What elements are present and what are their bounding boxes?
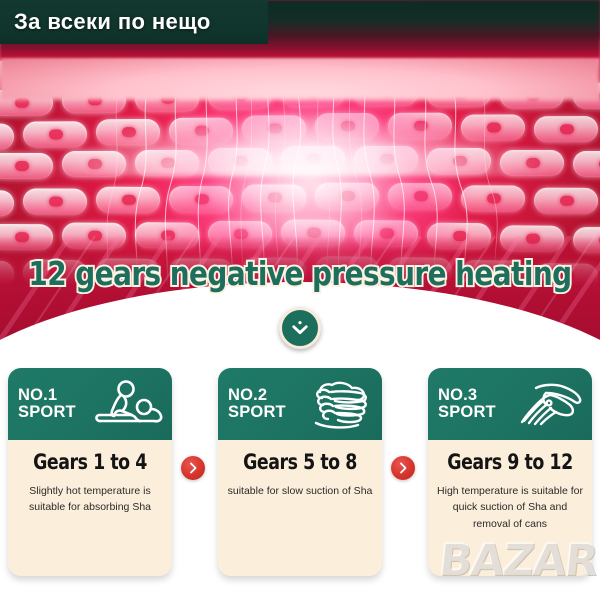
hero-headline: 12 gears negative pressure heating bbox=[18, 254, 582, 293]
card-header: NO.2 SPORT bbox=[218, 368, 382, 440]
scroll-down-button[interactable] bbox=[279, 307, 321, 349]
card-no3-sport[interactable]: NO.3 SPORT Gears 9 to bbox=[428, 368, 592, 576]
massage-therapy-icon bbox=[92, 378, 164, 432]
connector-arrow-2[interactable] bbox=[391, 456, 415, 480]
card-title: Gears 1 to 4 bbox=[23, 450, 157, 474]
card-title: Gears 9 to 12 bbox=[443, 450, 577, 474]
chevron-right-icon bbox=[397, 462, 409, 474]
card-no2-sport[interactable]: NO.2 SPORT bbox=[218, 368, 382, 576]
feature-cards: NO.1 SPORT Gears 1 to bbox=[0, 368, 600, 583]
card-badge: NO.3 SPORT bbox=[438, 387, 496, 422]
card-badge: NO.1 SPORT bbox=[18, 387, 76, 422]
banner-text: За всеки по нещо bbox=[14, 9, 211, 35]
product-feature-page: За всеки по нещо 12 gears negative press… bbox=[0, 0, 600, 600]
card-badge: NO.2 SPORT bbox=[228, 387, 286, 422]
card-description: suitable for slow suction of Sha bbox=[227, 483, 373, 499]
card-body: Gears 1 to 4 Slightly hot temperature is… bbox=[8, 440, 172, 516]
pinching-hand-icon bbox=[512, 378, 584, 432]
connector-arrow-1[interactable] bbox=[181, 456, 205, 480]
fist-hand-icon bbox=[302, 378, 374, 432]
card-description: Slightly hot temperature is suitable for… bbox=[17, 483, 163, 516]
card-description: High temperature is suitable for quick s… bbox=[437, 483, 583, 532]
card-body: Gears 9 to 12 High temperature is suitab… bbox=[428, 440, 592, 532]
chevron-right-icon bbox=[187, 462, 199, 474]
card-title: Gears 5 to 8 bbox=[233, 450, 367, 474]
card-no1-sport[interactable]: NO.1 SPORT Gears 1 to bbox=[8, 368, 172, 576]
card-body: Gears 5 to 8 suitable for slow suction o… bbox=[218, 440, 382, 499]
chevron-down-icon bbox=[290, 318, 310, 338]
card-header: NO.3 SPORT bbox=[428, 368, 592, 440]
card-header: NO.1 SPORT bbox=[8, 368, 172, 440]
